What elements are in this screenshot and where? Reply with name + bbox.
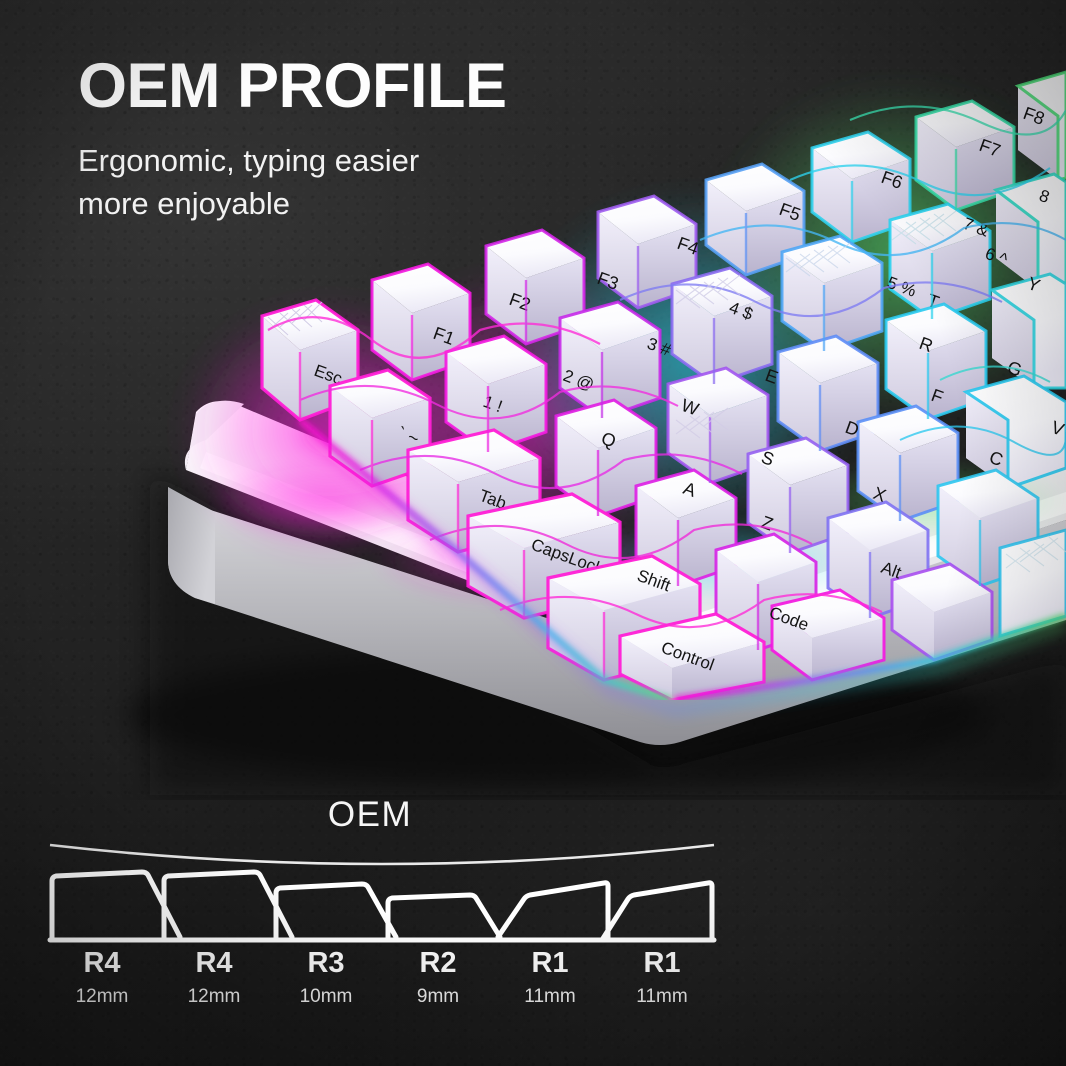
vignette-overlay (0, 0, 1066, 1066)
product-marketing-image: Esc F1 F2 (0, 0, 1066, 1066)
